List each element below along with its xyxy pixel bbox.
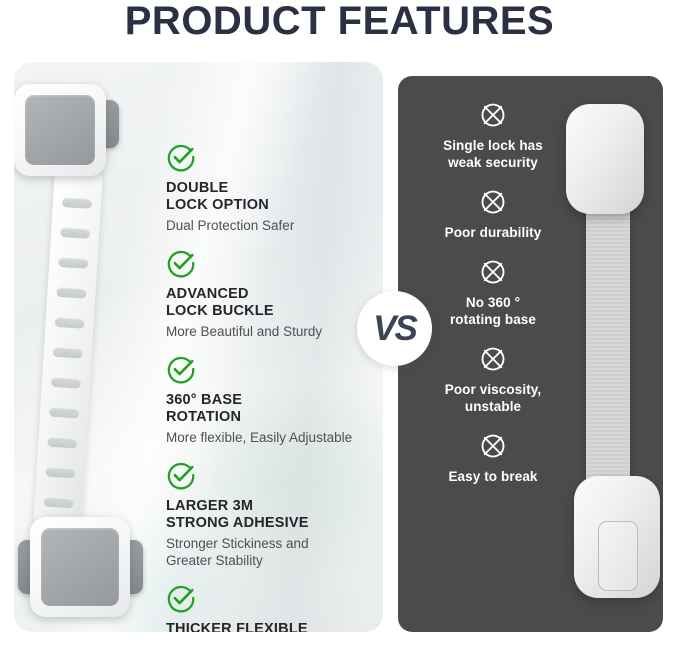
competitor-pad-top — [566, 104, 644, 214]
feature-description: More Beautiful and Sturdy — [166, 323, 383, 340]
feature-item: ADVANCED LOCK BUCKLE More Beautiful and … — [166, 248, 383, 340]
x-circle-icon — [478, 100, 508, 130]
feature-title: 360° BASE ROTATION — [166, 392, 383, 425]
feature-description: Stronger Stickiness and Greater Stabilit… — [166, 535, 383, 569]
check-circle-icon — [166, 583, 196, 613]
drawback-item: Single lock has weak security — [414, 100, 572, 171]
check-circle-icon — [166, 142, 196, 172]
ribbed-lock-strap — [33, 169, 103, 531]
competitor-product-image — [560, 76, 663, 632]
drawback-list: Single lock has weak security Poor durab… — [414, 100, 572, 501]
pro-feature-panel: DOUBLE LOCK OPTION Dual Protection Safer… — [14, 62, 383, 632]
adhesive-base-bottom — [30, 517, 130, 617]
drawback-item: Poor viscosity, unstable — [414, 344, 572, 415]
feature-title: DOUBLE LOCK OPTION — [166, 180, 383, 213]
drawback-item: No 360 ° rotating base — [414, 257, 572, 328]
vs-label: VS — [373, 309, 416, 349]
feature-title: ADVANCED LOCK BUCKLE — [166, 286, 383, 319]
drawback-text: Single lock has weak security — [414, 137, 572, 171]
competitor-strap — [586, 204, 630, 494]
x-circle-icon — [478, 257, 508, 287]
x-circle-icon — [478, 344, 508, 374]
drawback-item: Easy to break — [414, 431, 572, 485]
feature-description: More flexible, Easily Adjustable — [166, 429, 383, 446]
check-circle-icon — [166, 460, 196, 490]
competitor-pad-bottom — [574, 476, 660, 598]
feature-title: THICKER FLEXIBLE LOCK STRAP — [166, 621, 383, 632]
our-product-image — [14, 62, 140, 632]
drawback-item: Poor durability — [414, 187, 572, 241]
x-circle-icon — [478, 431, 508, 461]
feature-item: LARGER 3M STRONG ADHESIVE Stronger Stick… — [166, 460, 383, 569]
competitor-drawback-panel: Single lock has weak security Poor durab… — [398, 76, 663, 632]
feature-description: Dual Protection Safer — [166, 217, 383, 234]
check-circle-icon — [166, 248, 196, 278]
vs-badge: VS — [357, 291, 432, 366]
drawback-text: Poor durability — [414, 224, 572, 241]
drawback-text: No 360 ° rotating base — [414, 294, 572, 328]
feature-item: DOUBLE LOCK OPTION Dual Protection Safer — [166, 142, 383, 234]
feature-list: DOUBLE LOCK OPTION Dual Protection Safer… — [166, 142, 383, 632]
feature-item: THICKER FLEXIBLE LOCK STRAP Difficult to… — [166, 583, 383, 632]
adhesive-base-top — [14, 84, 106, 176]
competitor-latch — [598, 521, 638, 591]
feature-item: 360° BASE ROTATION More flexible, Easily… — [166, 354, 383, 446]
x-circle-icon — [478, 187, 508, 217]
feature-title: LARGER 3M STRONG ADHESIVE — [166, 498, 383, 531]
drawback-text: Easy to break — [414, 468, 572, 485]
drawback-text: Poor viscosity, unstable — [414, 381, 572, 415]
page-title: PRODUCT FEATURES — [0, 0, 679, 44]
check-circle-icon — [166, 354, 196, 384]
